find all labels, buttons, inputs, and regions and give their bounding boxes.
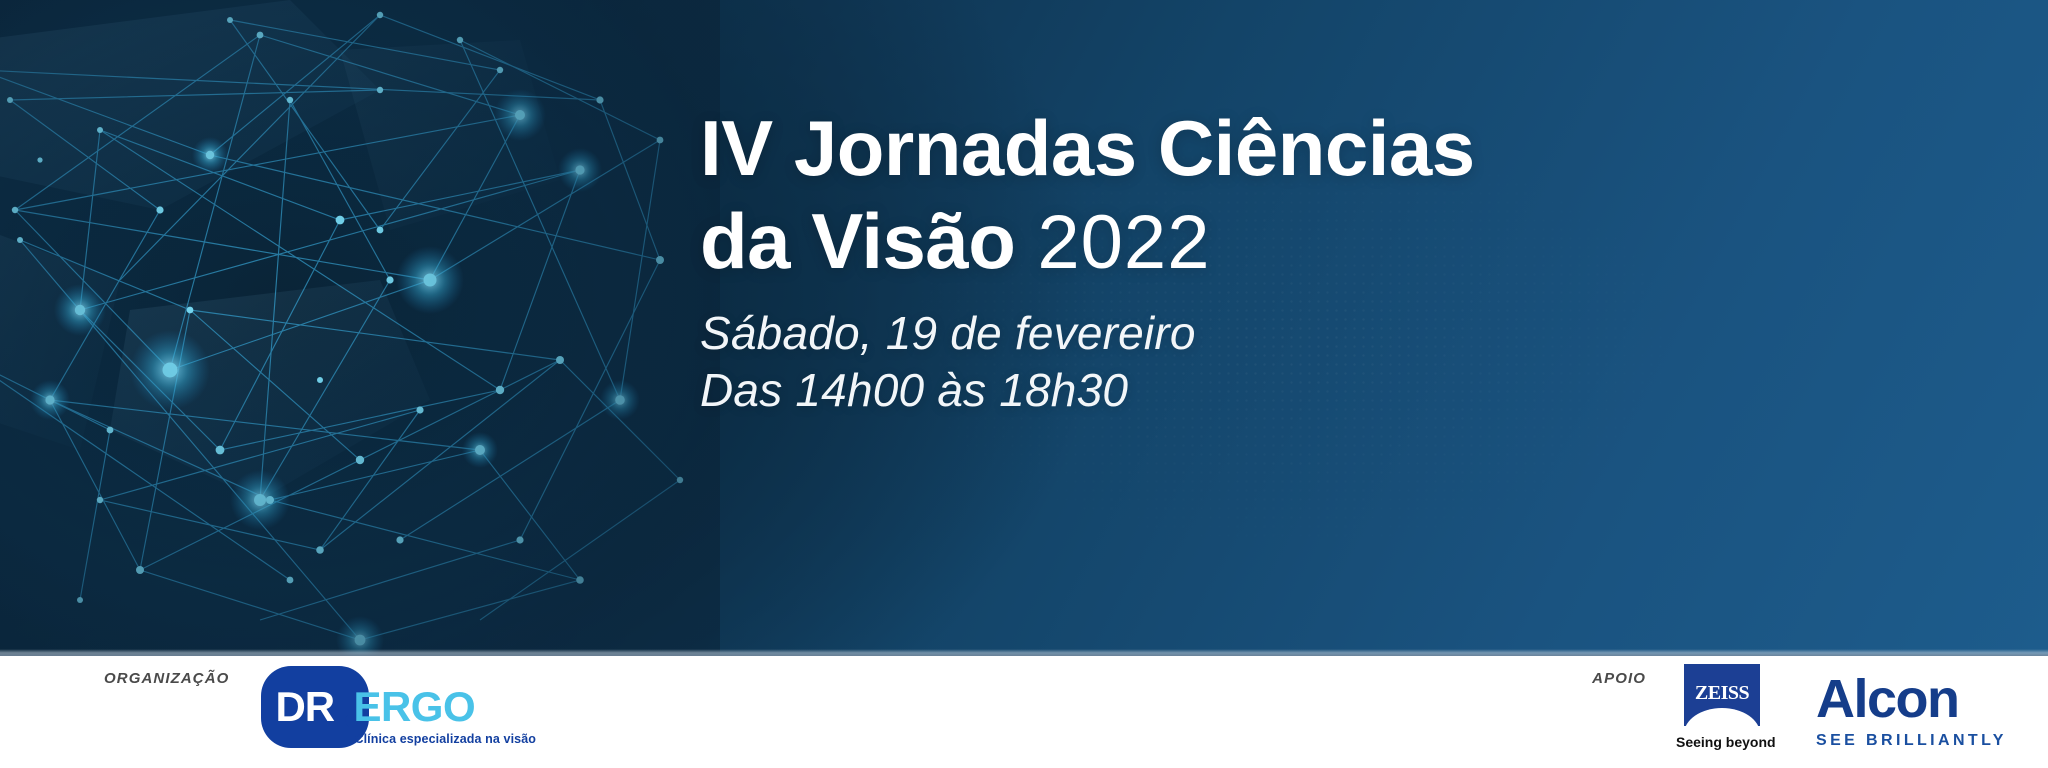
zeiss-logo[interactable]: ZEISS Seeing beyond xyxy=(1684,664,1760,760)
organization-group: ORGANIZAÇÃO DR ERGO Clínica especializad… xyxy=(104,656,491,768)
event-title-line-1: IV Jornadas Ciências xyxy=(700,102,1880,195)
drergo-logo[interactable]: DR ERGO Clínica especializada na visão xyxy=(261,662,491,754)
network-constellation-graphic xyxy=(0,0,720,656)
event-year: 2022 xyxy=(1037,200,1210,285)
drergo-name-suffix: ERGO xyxy=(353,686,475,728)
support-group: APOIO ZEISS Seeing beyond Alcon SEE BRIL… xyxy=(1592,656,2012,768)
hero-section: IV Jornadas Ciências da Visão2022 Sábado… xyxy=(0,0,2048,656)
event-title-line-2: da Visão2022 xyxy=(700,195,1880,289)
drergo-name-prefix: DR xyxy=(275,686,334,728)
zeiss-tagline: Seeing beyond xyxy=(1676,734,1768,750)
zeiss-wordmark: ZEISS xyxy=(1684,682,1760,705)
alcon-wordmark: Alcon xyxy=(1816,672,2012,726)
event-date: Sábado, 19 de fevereiro xyxy=(700,305,1880,362)
banner-text-block: IV Jornadas Ciências da Visão2022 Sábado… xyxy=(700,102,1880,419)
alcon-logo[interactable]: Alcon SEE BRILLIANTLY xyxy=(1816,672,2012,746)
event-title-line-2-text: da Visão xyxy=(700,197,1015,285)
event-banner: IV Jornadas Ciências da Visão2022 Sábado… xyxy=(0,0,2048,768)
footer-bar: ORGANIZAÇÃO DR ERGO Clínica especializad… xyxy=(0,656,2048,768)
alcon-tagline: SEE BRILLIANTLY xyxy=(1816,732,2012,750)
event-details: Sábado, 19 de fevereiro Das 14h00 às 18h… xyxy=(700,305,1880,419)
organization-label: ORGANIZAÇÃO xyxy=(104,670,229,687)
event-time: Das 14h00 às 18h30 xyxy=(700,362,1880,419)
support-label: APOIO xyxy=(1592,670,1646,687)
drergo-tagline: Clínica especializada na visão xyxy=(354,732,536,746)
